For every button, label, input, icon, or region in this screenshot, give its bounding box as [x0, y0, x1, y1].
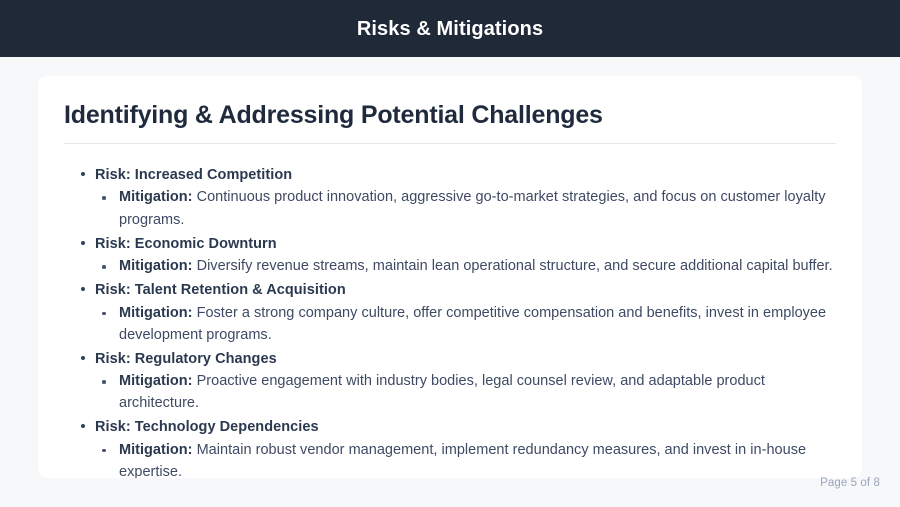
mitigation-label: Mitigation: — [119, 442, 193, 458]
risk-label: Risk: Regulatory Changes — [95, 348, 836, 370]
mitigation-body: Continuous product innovation, aggressiv… — [119, 189, 826, 227]
bullet-dot-icon — [102, 312, 106, 316]
mitigation-line: Mitigation: Proactive engagement with in… — [119, 370, 836, 414]
list-item: Risk: Talent Retention & Acquisition Mit… — [64, 279, 836, 346]
mitigation-body: Foster a strong company culture, offer c… — [119, 305, 826, 343]
bullet-dot-icon — [81, 241, 85, 245]
list-item: Risk: Regulatory Changes Mitigation: Pro… — [64, 348, 836, 415]
risk-label: Risk: Technology Dependencies — [95, 416, 836, 438]
page-indicator: Page 5 of 8 — [820, 477, 880, 489]
slide-card: Identifying & Addressing Potential Chall… — [38, 76, 862, 478]
bullet-dot-icon — [81, 172, 85, 176]
page-title: Risks & Mitigations — [357, 19, 543, 39]
mitigation-list: Mitigation: Maintain robust vendor manag… — [95, 439, 836, 478]
mitigation-label: Mitigation: — [119, 373, 193, 389]
list-item: Mitigation: Foster a strong company cult… — [95, 302, 836, 346]
mitigation-list: Mitigation: Proactive engagement with in… — [95, 370, 836, 414]
bullet-dot-icon — [81, 287, 85, 291]
bullet-dot-icon — [102, 196, 106, 200]
mitigation-body: Diversify revenue streams, maintain lean… — [197, 258, 833, 274]
bullet-dot-icon — [102, 380, 106, 384]
slide-card-content: Identifying & Addressing Potential Chall… — [38, 76, 862, 478]
bullet-dot-icon — [102, 449, 106, 453]
risk-list: Risk: Increased Competition Mitigation: … — [64, 164, 836, 478]
bullet-dot-icon — [102, 265, 106, 269]
list-item: Risk: Increased Competition Mitigation: … — [64, 164, 836, 231]
list-item: Mitigation: Proactive engagement with in… — [95, 370, 836, 414]
risk-label: Risk: Talent Retention & Acquisition — [95, 279, 836, 301]
list-item: Mitigation: Diversify revenue streams, m… — [95, 255, 836, 277]
mitigation-list: Mitigation: Foster a strong company cult… — [95, 302, 836, 346]
risk-label: Risk: Economic Downturn — [95, 233, 836, 255]
mitigation-label: Mitigation: — [119, 305, 193, 321]
mitigation-line: Mitigation: Maintain robust vendor manag… — [119, 439, 836, 478]
mitigation-list: Mitigation: Continuous product innovatio… — [95, 186, 836, 230]
mitigation-line: Mitigation: Foster a strong company cult… — [119, 302, 836, 346]
risk-label: Risk: Increased Competition — [95, 164, 836, 186]
list-item: Mitigation: Continuous product innovatio… — [95, 186, 836, 230]
bullet-dot-icon — [81, 424, 85, 428]
mitigation-line: Mitigation: Diversify revenue streams, m… — [119, 255, 836, 277]
mitigation-body: Maintain robust vendor management, imple… — [119, 442, 806, 478]
bullet-dot-icon — [81, 356, 85, 360]
mitigation-label: Mitigation: — [119, 189, 193, 205]
heading-divider — [64, 143, 836, 144]
slide-header-bar: Risks & Mitigations — [0, 0, 900, 57]
mitigation-line: Mitigation: Continuous product innovatio… — [119, 186, 836, 230]
mitigation-list: Mitigation: Diversify revenue streams, m… — [95, 255, 836, 277]
mitigation-label: Mitigation: — [119, 258, 193, 274]
list-item: Mitigation: Maintain robust vendor manag… — [95, 439, 836, 478]
list-item: Risk: Economic Downturn Mitigation: Dive… — [64, 233, 836, 278]
list-item: Risk: Technology Dependencies Mitigation… — [64, 416, 836, 478]
mitigation-body: Proactive engagement with industry bodie… — [119, 373, 765, 411]
slide-heading: Identifying & Addressing Potential Chall… — [64, 100, 836, 143]
